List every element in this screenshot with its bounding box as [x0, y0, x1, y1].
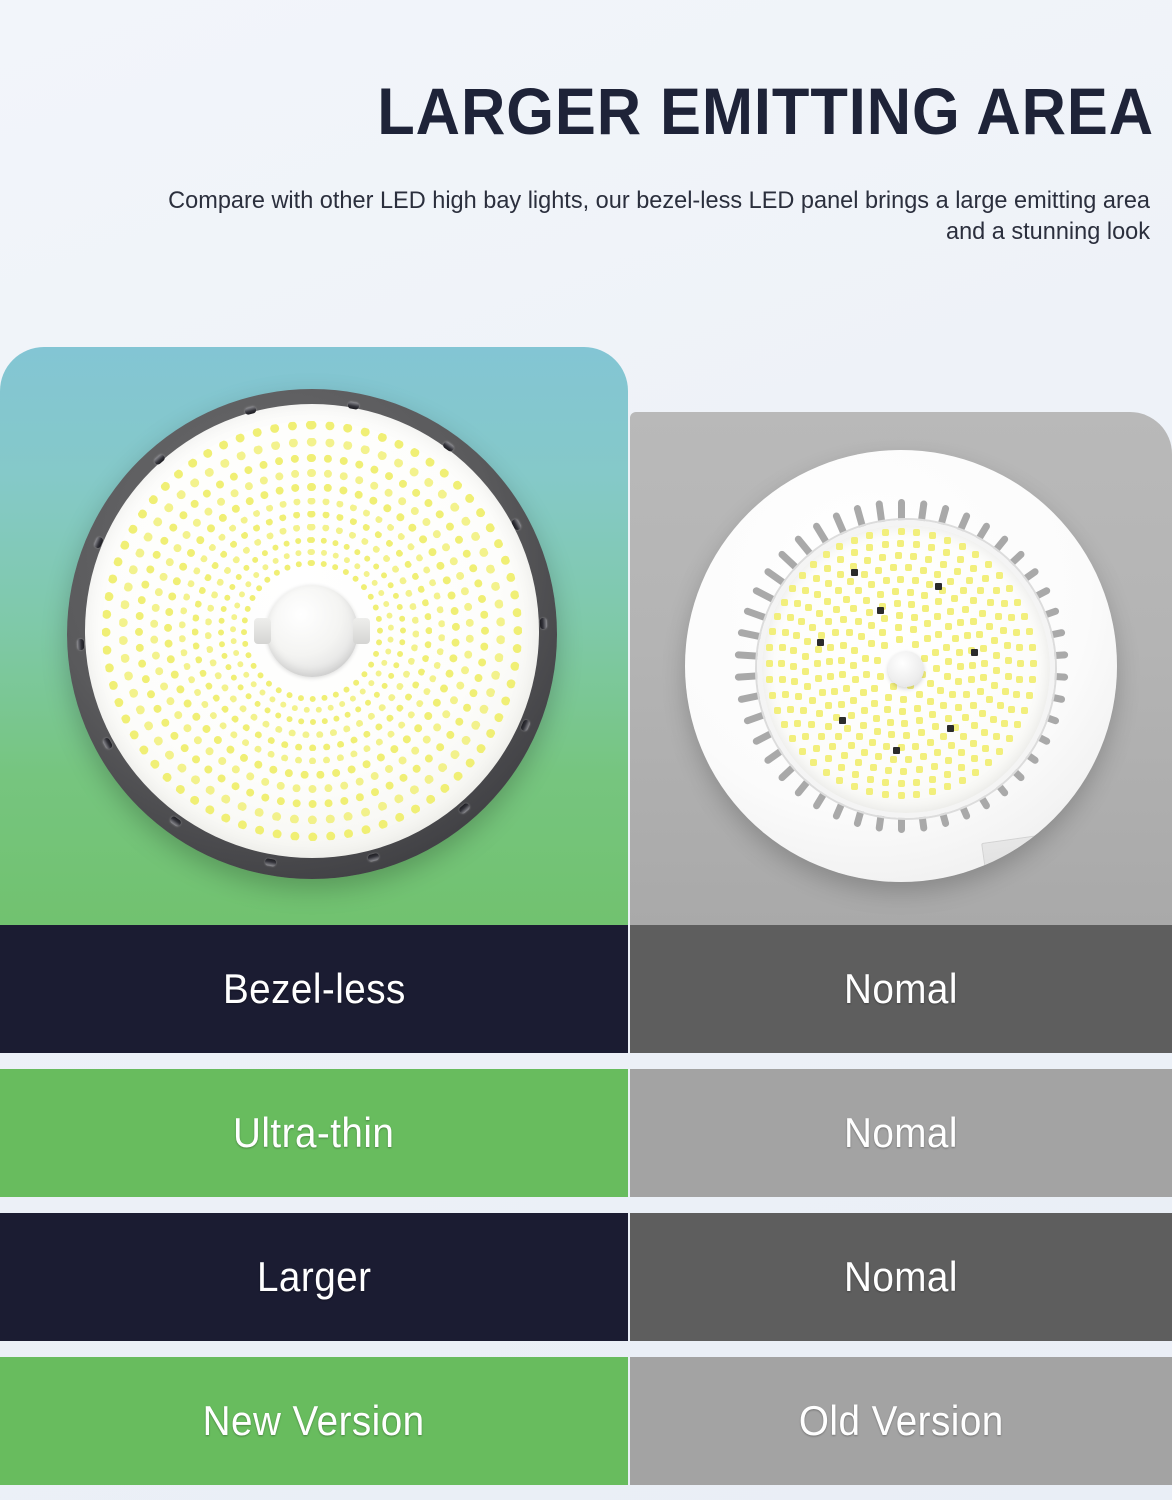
- led-dot: [916, 717, 923, 724]
- led-dot: [851, 537, 858, 544]
- lens-tab-left: [254, 618, 271, 644]
- led-dot: [833, 606, 840, 613]
- led-dot: [816, 710, 823, 717]
- led-dot: [932, 649, 939, 656]
- led-dot: [794, 600, 801, 607]
- led-dot: [981, 729, 988, 736]
- led-dot: [993, 733, 1000, 740]
- comparison-row: Bezel-lessNomal: [0, 925, 1172, 1053]
- led-dot: [890, 756, 897, 763]
- led-dot: [823, 551, 830, 558]
- led-dot: [800, 707, 807, 714]
- led-dot: [993, 587, 1000, 594]
- led-dot: [858, 633, 865, 640]
- led-dot: [943, 644, 950, 651]
- led-dot: [962, 714, 969, 721]
- led-dot: [993, 652, 1000, 659]
- led-dot: [787, 614, 794, 621]
- led-dot: [970, 597, 977, 604]
- product-comparison-images: LED High Bay Light: [0, 347, 1172, 925]
- led-dot: [945, 623, 952, 630]
- led-dot: [920, 753, 927, 760]
- led-dot: [816, 610, 823, 617]
- comparison-cell-new-emitting-area: Larger: [0, 1213, 628, 1341]
- led-dot: [885, 694, 892, 701]
- led-dot: [860, 689, 867, 696]
- led-dot: [1030, 660, 1037, 667]
- led-dot: [914, 705, 921, 712]
- led-dot: [970, 740, 977, 747]
- led-dot: [875, 567, 882, 574]
- led-dot: [894, 600, 901, 607]
- led-dot: [837, 556, 844, 563]
- led-dot: [977, 587, 984, 594]
- led-dot: [805, 604, 812, 611]
- led-dot: [838, 701, 845, 708]
- center-lens-dome: [266, 585, 358, 677]
- normal-lamp-illustration: LED High Bay Light: [685, 450, 1117, 882]
- led-dot: [935, 598, 942, 605]
- led-dot: [861, 707, 868, 714]
- led-dot: [840, 616, 847, 623]
- led-dot: [925, 556, 932, 563]
- led-dot: [901, 720, 908, 727]
- lamp-emitting-face-small: [757, 520, 1055, 818]
- led-dot: [966, 577, 973, 584]
- led-dot: [819, 689, 826, 696]
- led-dot: [895, 624, 902, 631]
- led-dot: [926, 581, 933, 588]
- led-dot: [848, 742, 855, 749]
- bezel-screw: [367, 853, 379, 863]
- led-dot: [954, 568, 961, 575]
- led-dot: [871, 700, 878, 707]
- led-dot: [815, 675, 822, 682]
- led-dot: [979, 610, 986, 617]
- led-dot: [825, 755, 832, 762]
- led-dot: [990, 716, 997, 723]
- driver-component: [893, 747, 900, 754]
- led-dot: [970, 618, 977, 625]
- led-dot: [766, 676, 773, 683]
- led-dot: [1000, 627, 1007, 634]
- led-dot: [877, 591, 884, 598]
- page-subtitle: Compare with other LED high bay lights, …: [161, 185, 1150, 248]
- led-dot: [959, 543, 966, 550]
- led-dot: [929, 788, 936, 795]
- led-dot: [837, 571, 844, 578]
- bezel-screw: [458, 803, 471, 816]
- led-dot: [981, 660, 988, 667]
- led-dot: [782, 691, 789, 698]
- header-section: LARGER EMITTING AREA Compare with other …: [0, 0, 1172, 347]
- led-dot: [907, 589, 914, 596]
- led-dot: [824, 565, 831, 572]
- led-dot: [855, 618, 862, 625]
- driver-component: [839, 717, 846, 724]
- led-dot: [879, 629, 886, 636]
- led-dot: [969, 662, 976, 669]
- led-dot: [825, 702, 832, 709]
- led-dot: [932, 723, 939, 730]
- led-dot: [862, 655, 869, 662]
- bezel-screw: [169, 816, 182, 828]
- led-dot: [982, 575, 989, 582]
- led-dot: [799, 748, 806, 755]
- led-dot: [840, 642, 847, 649]
- led-dot: [945, 757, 952, 764]
- comparison-label-new: Larger: [257, 1253, 371, 1301]
- comparison-cell-new-bezel: Bezel-less: [0, 925, 628, 1053]
- led-dot: [1014, 599, 1021, 606]
- led-dot: [791, 678, 798, 685]
- driver-component: [935, 583, 942, 590]
- comparison-cell-old-thickness: Nomal: [630, 1069, 1172, 1197]
- led-dot: [960, 587, 967, 594]
- led-dot: [826, 658, 833, 665]
- led-dot: [927, 680, 934, 687]
- led-dot: [839, 671, 846, 678]
- led-dot: [852, 771, 859, 778]
- led-dot: [841, 752, 848, 759]
- led-dot: [810, 759, 817, 766]
- led-dot: [778, 660, 785, 667]
- led-dot: [991, 682, 998, 689]
- led-dot: [922, 605, 929, 612]
- led-dot: [898, 792, 905, 799]
- led-dot: [934, 749, 941, 756]
- bezel-less-lamp-illustration: [67, 389, 557, 879]
- comparison-label-old: Nomal: [844, 1109, 958, 1157]
- led-dot: [855, 759, 862, 766]
- led-dot: [882, 791, 889, 798]
- led-dot: [855, 587, 862, 594]
- led-dot: [798, 618, 805, 625]
- led-dot: [866, 788, 873, 795]
- led-dot: [962, 606, 969, 613]
- led-dot: [934, 613, 941, 620]
- led-dot: [929, 711, 936, 718]
- comparison-row: LargerNomal: [0, 1213, 1172, 1341]
- led-dot: [804, 638, 811, 645]
- led-dot: [924, 635, 931, 642]
- led-dot: [996, 748, 1003, 755]
- led-dot: [794, 720, 801, 727]
- comparison-row: Ultra-thinNomal: [0, 1069, 1172, 1197]
- led-dot: [804, 683, 811, 690]
- driver-component: [851, 569, 858, 576]
- led-dot: [1017, 660, 1024, 667]
- led-dot: [881, 642, 888, 649]
- led-dot: [912, 743, 919, 750]
- led-dot: [779, 644, 786, 651]
- led-dot: [799, 572, 806, 579]
- led-dot: [1029, 644, 1036, 651]
- led-dot: [864, 557, 871, 564]
- led-dot: [898, 528, 905, 535]
- bezel-screw: [76, 639, 83, 650]
- led-dot: [787, 706, 794, 713]
- led-dot: [861, 749, 868, 756]
- led-dot: [927, 698, 934, 705]
- led-dot: [1016, 644, 1023, 651]
- comparison-cell-old-emitting-area: Nomal: [630, 1213, 1172, 1341]
- led-dot: [964, 632, 971, 639]
- led-dot: [769, 628, 776, 635]
- led-dot: [808, 721, 815, 728]
- led-dot: [793, 632, 800, 639]
- led-dot: [866, 544, 873, 551]
- led-dot: [960, 733, 967, 740]
- led-dot: [1001, 600, 1008, 607]
- led-dot: [831, 688, 838, 695]
- led-dot: [927, 739, 934, 746]
- led-dot: [940, 561, 947, 568]
- led-dot: [913, 529, 920, 536]
- led-dot: [924, 620, 931, 627]
- led-dot: [852, 676, 859, 683]
- led-dot: [866, 609, 873, 616]
- led-dot: [897, 576, 904, 583]
- led-dot: [1026, 692, 1033, 699]
- led-dot: [815, 646, 822, 653]
- led-dot: [982, 745, 989, 752]
- bezel-screw: [520, 719, 531, 732]
- led-dot: [897, 540, 904, 547]
- led-dot: [945, 715, 952, 722]
- led-dot: [843, 596, 850, 603]
- led-dot: [850, 697, 857, 704]
- center-boss: [888, 651, 924, 687]
- product-image-panel-new: [0, 347, 628, 925]
- led-dot: [836, 543, 843, 550]
- led-dot: [848, 712, 855, 719]
- driver-component: [877, 607, 884, 614]
- led-dot: [976, 631, 983, 638]
- led-dot: [1029, 676, 1036, 683]
- led-dot: [832, 629, 839, 636]
- led-dot: [883, 577, 890, 584]
- led-dot: [884, 706, 891, 713]
- led-dot: [1005, 657, 1012, 664]
- led-dot: [986, 623, 993, 630]
- led-dot: [868, 640, 875, 647]
- led-dot: [940, 702, 947, 709]
- led-dot: [970, 565, 977, 572]
- led-dot: [913, 791, 920, 798]
- driver-component: [947, 725, 954, 732]
- led-dot: [963, 691, 970, 698]
- led-dot: [940, 733, 947, 740]
- led-dot: [971, 722, 978, 729]
- led-dot: [896, 636, 903, 643]
- comparison-table: Bezel-lessNomalUltra-thinNomalLargerNoma…: [0, 925, 1172, 1500]
- comparison-cell-new-thickness: Ultra-thin: [0, 1069, 628, 1197]
- led-dot: [958, 764, 965, 771]
- comparison-label-new: New Version: [203, 1397, 425, 1445]
- led-dot: [887, 719, 894, 726]
- led-dot: [958, 749, 965, 756]
- led-dot: [881, 615, 888, 622]
- led-dot: [991, 637, 998, 644]
- led-dot: [782, 629, 789, 636]
- led-dot: [846, 629, 853, 636]
- led-dot: [972, 769, 979, 776]
- led-dot: [838, 657, 845, 664]
- led-dot: [980, 674, 987, 681]
- product-image-panel-old: LED High Bay Light: [630, 412, 1172, 925]
- led-dot: [971, 755, 978, 762]
- led-dot: [957, 619, 964, 626]
- led-dot: [882, 541, 889, 548]
- led-dot: [774, 613, 781, 620]
- led-dot: [879, 554, 886, 561]
- led-dot: [838, 764, 845, 771]
- led-dot: [871, 685, 878, 692]
- led-dot: [1001, 720, 1008, 727]
- led-dot: [1016, 676, 1023, 683]
- led-dot: [905, 756, 912, 763]
- led-dot: [993, 667, 1000, 674]
- led-dot: [1008, 614, 1015, 621]
- led-dot: [851, 549, 858, 556]
- led-dot: [835, 733, 842, 740]
- led-dot: [995, 613, 1002, 620]
- led-dot: [802, 733, 809, 740]
- led-dot: [863, 671, 870, 678]
- led-dot: [955, 678, 962, 685]
- led-dot: [769, 692, 776, 699]
- driver-component: [817, 639, 824, 646]
- led-dot: [867, 776, 874, 783]
- driver-component: [971, 649, 978, 656]
- led-dot: [774, 707, 781, 714]
- led-dot: [809, 697, 816, 704]
- led-dot: [1006, 585, 1013, 592]
- led-dot: [921, 592, 928, 599]
- led-dot: [916, 691, 923, 698]
- led-dot: [933, 665, 940, 672]
- led-dot: [874, 728, 881, 735]
- led-dot: [997, 702, 1004, 709]
- led-dot: [869, 739, 876, 746]
- led-dot: [779, 676, 786, 683]
- led-dot: [810, 561, 817, 568]
- led-dot: [827, 644, 834, 651]
- led-dot: [823, 769, 830, 776]
- led-dot: [920, 567, 927, 574]
- led-dot: [895, 552, 902, 559]
- led-dot: [825, 618, 832, 625]
- led-dot: [825, 723, 832, 730]
- comparison-label-old: Old Version: [799, 1397, 1004, 1445]
- led-dot: [944, 537, 951, 544]
- led-dot: [809, 624, 816, 631]
- led-dot: [1004, 642, 1011, 649]
- led-dot: [813, 745, 820, 752]
- led-dot: [789, 735, 796, 742]
- led-dot: [1002, 688, 1009, 695]
- led-dot: [829, 743, 836, 750]
- led-dot: [979, 710, 986, 717]
- led-dot: [888, 731, 895, 738]
- led-dot: [875, 753, 882, 760]
- comparison-label-old: Nomal: [844, 965, 958, 1013]
- led-dot: [892, 588, 899, 595]
- led-dot: [836, 777, 843, 784]
- led-dot: [968, 676, 975, 683]
- led-dot: [944, 771, 951, 778]
- led-dot: [944, 673, 951, 680]
- led-dot: [916, 766, 923, 773]
- led-dot: [1013, 629, 1020, 636]
- led-dot: [802, 653, 809, 660]
- comparison-label-old: Nomal: [844, 1253, 958, 1301]
- lamp-emitting-face: [85, 404, 539, 858]
- led-dot: [789, 585, 796, 592]
- led-dot: [912, 577, 919, 584]
- comparison-cell-old-version: Old Version: [630, 1357, 1172, 1485]
- led-dot: [850, 605, 857, 612]
- led-dot: [918, 729, 925, 736]
- led-dot: [900, 768, 907, 775]
- led-dot: [985, 759, 992, 766]
- led-dot: [813, 575, 820, 582]
- led-dot: [844, 725, 851, 732]
- led-dot: [970, 702, 977, 709]
- led-dot: [905, 564, 912, 571]
- led-dot: [943, 549, 950, 556]
- led-dot: [890, 564, 897, 571]
- comparison-cell-new-version: New Version: [0, 1357, 628, 1485]
- led-dot: [1014, 721, 1021, 728]
- led-dot: [900, 696, 907, 703]
- led-dot: [977, 688, 984, 695]
- led-dot: [913, 541, 920, 548]
- led-dot: [948, 742, 955, 749]
- led-dot: [929, 532, 936, 539]
- led-dot: [835, 587, 842, 594]
- led-dot: [825, 580, 832, 587]
- led-dot: [952, 635, 959, 642]
- led-dot: [882, 529, 889, 536]
- led-dot: [955, 704, 962, 711]
- led-dot: [790, 647, 797, 654]
- comparison-row: New VersionOld Version: [0, 1357, 1172, 1485]
- led-dot: [931, 763, 938, 770]
- led-dot: [935, 631, 942, 638]
- comparison-cell-old-bezel: Nomal: [630, 925, 1172, 1053]
- led-dot: [929, 776, 936, 783]
- led-dot: [882, 779, 889, 786]
- led-dot: [790, 663, 797, 670]
- led-dot: [877, 673, 884, 680]
- led-dot: [896, 612, 903, 619]
- led-dot: [912, 641, 919, 648]
- label-qr-chip: [1012, 877, 1045, 882]
- led-dot: [818, 733, 825, 740]
- product-label-title: LED High Bay Light: [932, 880, 993, 882]
- led-dot: [883, 743, 890, 750]
- led-dot: [814, 660, 821, 667]
- led-dot: [870, 764, 877, 771]
- led-dot: [863, 597, 870, 604]
- led-dot: [959, 777, 966, 784]
- led-dot: [944, 783, 951, 790]
- led-dot: [957, 663, 964, 670]
- led-dot: [868, 581, 875, 588]
- led-dot: [957, 556, 964, 563]
